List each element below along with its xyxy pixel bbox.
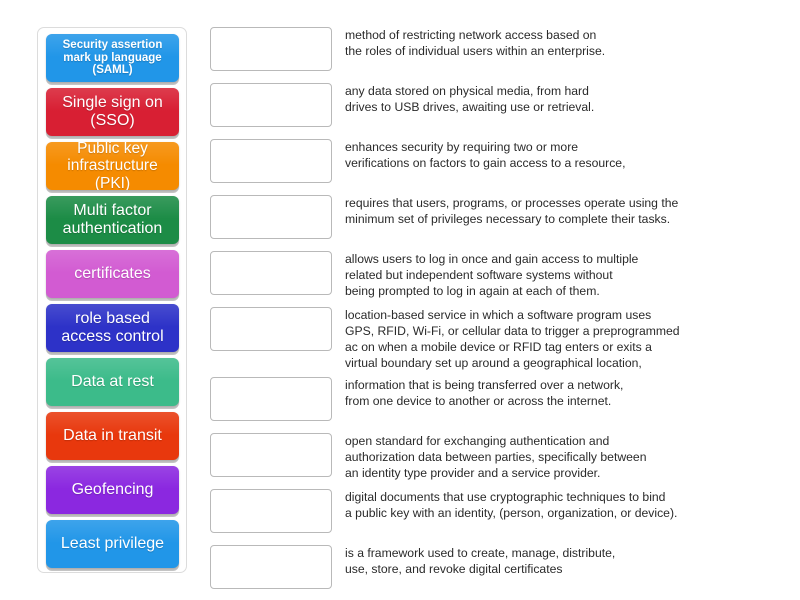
term-tile[interactable]: certificates <box>46 250 179 298</box>
term-tile[interactable]: Data at rest <box>46 358 179 406</box>
term-tile[interactable]: Geofencing <box>46 466 179 514</box>
definition-text: information that is being transferred ov… <box>345 377 770 410</box>
definition-row: digital documents that use cryptographic… <box>210 489 770 539</box>
definition-row: requires that users, programs, or proces… <box>210 195 770 245</box>
definition-row: method of restricting network access bas… <box>210 27 770 77</box>
definition-text: open standard for exchanging authenticat… <box>345 433 770 482</box>
definition-rows-list: method of restricting network access bas… <box>210 27 770 595</box>
term-tile-label: Least privilege <box>61 535 164 553</box>
definition-row: information that is being transferred ov… <box>210 377 770 427</box>
definition-row: any data stored on physical media, from … <box>210 83 770 133</box>
term-tile-label: role based access control <box>51 310 174 346</box>
definition-text: any data stored on physical media, from … <box>345 83 770 116</box>
answer-dropzone[interactable] <box>210 27 332 71</box>
term-tile-label: Security assertion mark up language (SAM… <box>51 39 174 78</box>
definition-rows-panel: method of restricting network access bas… <box>210 27 770 600</box>
match-up-activity: Security assertion mark up language (SAM… <box>0 0 800 600</box>
term-tiles-list: Security assertion mark up language (SAM… <box>46 34 178 568</box>
term-tile-label: Single sign on (SSO) <box>51 94 174 130</box>
definition-text: is a framework used to create, manage, d… <box>345 545 770 578</box>
answer-dropzone[interactable] <box>210 195 332 239</box>
term-tile-label: Public key infrastructure (PKI) <box>51 142 174 190</box>
definition-row: allows users to log in once and gain acc… <box>210 251 770 301</box>
definition-row: open standard for exchanging authenticat… <box>210 433 770 483</box>
answer-dropzone[interactable] <box>210 489 332 533</box>
term-tiles-panel: Security assertion mark up language (SAM… <box>37 27 187 573</box>
answer-dropzone[interactable] <box>210 139 332 183</box>
answer-dropzone[interactable] <box>210 83 332 127</box>
definition-text: method of restricting network access bas… <box>345 27 770 60</box>
term-tile-label: Multi factor authentication <box>51 202 174 238</box>
definition-text: enhances security by requiring two or mo… <box>345 139 770 172</box>
term-tile[interactable]: Single sign on (SSO) <box>46 88 179 136</box>
term-tile[interactable]: role based access control <box>46 304 179 352</box>
term-tile-label: Data in transit <box>63 427 162 445</box>
definition-row: location-based service in which a softwa… <box>210 307 770 371</box>
definition-row: is a framework used to create, manage, d… <box>210 545 770 595</box>
term-tile[interactable]: Security assertion mark up language (SAM… <box>46 34 179 82</box>
definition-text: location-based service in which a softwa… <box>345 307 770 371</box>
term-tile[interactable]: Multi factor authentication <box>46 196 179 244</box>
answer-dropzone[interactable] <box>210 251 332 295</box>
term-tile[interactable]: Least privilege <box>46 520 179 568</box>
term-tile[interactable]: Data in transit <box>46 412 179 460</box>
answer-dropzone[interactable] <box>210 307 332 351</box>
term-tile[interactable]: Public key infrastructure (PKI) <box>46 142 179 190</box>
definition-row: enhances security by requiring two or mo… <box>210 139 770 189</box>
answer-dropzone[interactable] <box>210 545 332 589</box>
definition-text: digital documents that use cryptographic… <box>345 489 770 522</box>
term-tile-label: Data at rest <box>71 373 154 391</box>
term-tile-label: Geofencing <box>72 481 154 499</box>
definition-text: allows users to log in once and gain acc… <box>345 251 770 300</box>
term-tile-label: certificates <box>74 265 150 283</box>
definition-text: requires that users, programs, or proces… <box>345 195 770 228</box>
answer-dropzone[interactable] <box>210 433 332 477</box>
answer-dropzone[interactable] <box>210 377 332 421</box>
